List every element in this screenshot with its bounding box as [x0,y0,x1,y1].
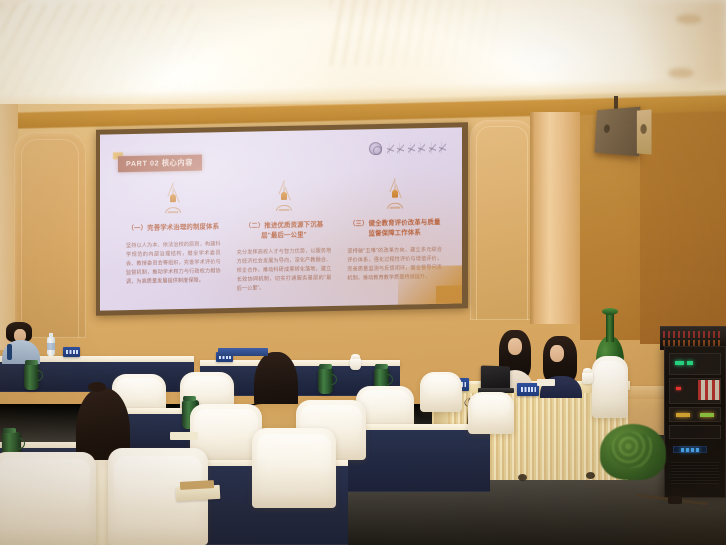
face [508,338,522,355]
mixer-knob-row[interactable] [663,331,723,338]
slide-column-heading: （二）推进优质资源下沉基层"最后一公里" [237,220,332,242]
rack-unit-amplifier[interactable] [669,353,721,375]
projection-screen[interactable]: PART 02 核心内容 （一）完善学术治理的制度体系 坚持以人为本、依法治校的… [100,127,462,310]
face [550,345,564,362]
rack-unit-eq[interactable] [669,407,721,422]
university-seal-icon [369,142,382,155]
balance-scale-icon [262,176,306,217]
name-placard [63,347,80,357]
ceiling-speaker-side-icon [637,109,652,154]
level-meter [676,413,690,417]
status-led [676,387,681,390]
green-thermos-cup [24,364,39,390]
signal-led [687,361,693,365]
right-wall-far [640,104,726,344]
paper-document [537,379,555,386]
slide-column-heading: （一）完善学术治理的制度体系 [128,222,220,234]
chair[interactable] [468,392,514,434]
slide-university-logo [369,141,447,156]
ceiling-speaker-icon [594,107,640,157]
chair[interactable] [252,428,336,508]
slide-column: （二）推进优质资源下沉基层"最后一公里" 充分发挥高校人才与智力优势，以服务地方… [237,176,332,294]
water-bottle [47,337,55,356]
slide-title: PART 02 核心内容 [118,155,202,173]
power-plug [668,496,682,504]
conference-room-photo: PART 02 核心内容 （一）完善学术治理的制度体系 坚持以人为本、依法治校的… [0,0,726,545]
rack-vent-grille [671,462,719,484]
chair[interactable] [420,372,462,412]
porcelain-tea-cup [350,358,361,370]
screen-accent-block [436,285,462,304]
rack-warning-label [698,380,720,400]
equipment-rack[interactable] [664,346,726,498]
slide-column-body: 充分发挥高校人才与智力优势，以服务地方经济社会发展为导向，深化产教融合、校企合作… [237,247,332,293]
paper-document [170,432,198,440]
balance-scale-icon [151,179,195,220]
table-foot [518,474,527,481]
university-wordmark [387,141,447,154]
level-meter [700,413,714,417]
power-led [675,361,684,365]
ceiling-vent-icon [676,14,702,24]
hair-tie [88,382,106,392]
chair[interactable] [592,356,628,418]
rack-unit-blank [669,425,721,439]
wall-panel-left [14,132,86,338]
chair[interactable] [0,452,96,545]
rack-display-panel[interactable] [673,446,707,453]
potted-green-plant [600,424,666,480]
wall-panel-right [470,120,534,320]
slide-column-heading: （三）健全教育评价改革与质量监督保障工作体系 [347,218,442,240]
lanyard [7,344,12,360]
slide-column-body: 坚持以人为本、依法治校的原则，构建科学规范的内部治理结构，健全学术委员会、教授委… [126,240,221,286]
balance-scale-icon [373,174,417,215]
name-placard [218,348,268,356]
porcelain-tea-cup [582,372,593,384]
slide-column: （一）完善学术治理的制度体系 坚持以人为本、依法治校的原则，构建科学规范的内部治… [126,178,221,296]
attendee-far-left [2,322,42,362]
laptop-computer[interactable] [481,365,510,390]
slide-columns: （一）完善学术治理的制度体系 坚持以人为本、依法治校的原则，构建科学规范的内部治… [126,174,442,296]
ceiling-vent-icon [668,68,694,78]
table-foot [586,472,595,479]
name-placard [517,383,539,396]
wall-pilaster [534,112,580,324]
